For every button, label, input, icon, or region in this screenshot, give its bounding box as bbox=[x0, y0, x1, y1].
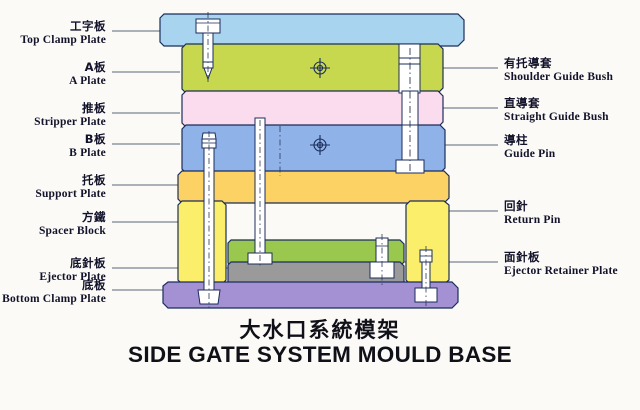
spacer-block-left bbox=[178, 201, 226, 284]
label-stripper-plate-cn: 推板 bbox=[34, 100, 106, 116]
label-a-plate-en: A Plate bbox=[69, 75, 106, 87]
label-guide-pin: 導柱 Guide Pin bbox=[504, 132, 555, 160]
label-b-plate: B板 B Plate bbox=[69, 131, 106, 159]
label-spacer-block-en: Spacer Block bbox=[39, 225, 106, 237]
mould-base-figure: 工字板 Top Clamp Plate A板 A Plate 推板 Stripp… bbox=[0, 0, 640, 410]
label-bottom-clamp-plate: 底板 Bottom Clamp Plate bbox=[2, 277, 106, 305]
label-support-plate-en: Support Plate bbox=[35, 188, 106, 200]
label-support-plate: 托板 Support Plate bbox=[35, 172, 106, 200]
label-b-plate-en: B Plate bbox=[69, 147, 106, 159]
label-bottom-clamp-plate-en: Bottom Clamp Plate bbox=[2, 293, 106, 305]
label-return-pin-cn: 回針 bbox=[504, 198, 561, 214]
label-a-plate: A板 A Plate bbox=[69, 59, 106, 87]
plate-support bbox=[178, 171, 449, 203]
label-shoulder-guide-bush-en: Shoulder Guide Bush bbox=[504, 71, 613, 83]
label-spacer-block: 方鐵 Spacer Block bbox=[39, 209, 106, 237]
label-support-plate-cn: 托板 bbox=[35, 172, 106, 188]
shoulder-guide-bush-body bbox=[399, 44, 420, 93]
label-stripper-plate: 推板 Stripper Plate bbox=[34, 100, 106, 128]
label-shoulder-guide-bush: 有托導套 Shoulder Guide Bush bbox=[504, 55, 613, 83]
label-guide-pin-en: Guide Pin bbox=[504, 148, 555, 160]
label-ejector-retainer-plate-cn: 面針板 bbox=[504, 249, 618, 265]
label-spacer-block-cn: 方鐵 bbox=[39, 209, 106, 225]
label-straight-guide-bush: 直導套 Straight Guide Bush bbox=[504, 95, 609, 123]
label-top-clamp-plate-en: Top Clamp Plate bbox=[20, 34, 106, 46]
label-return-pin-en: Return Pin bbox=[504, 214, 561, 226]
label-a-plate-cn: A板 bbox=[69, 59, 106, 75]
label-top-clamp-plate: 工字板 Top Clamp Plate bbox=[20, 18, 106, 46]
label-return-pin: 回針 Return Pin bbox=[504, 198, 561, 226]
label-shoulder-guide-bush-cn: 有托導套 bbox=[504, 55, 613, 71]
label-guide-pin-cn: 導柱 bbox=[504, 132, 555, 148]
label-straight-guide-bush-cn: 直導套 bbox=[504, 95, 609, 111]
label-bottom-clamp-plate-cn: 底板 bbox=[2, 277, 106, 293]
label-stripper-plate-en: Stripper Plate bbox=[34, 116, 106, 128]
label-straight-guide-bush-en: Straight Guide Bush bbox=[504, 111, 609, 123]
label-ejector-retainer-plate: 面針板 Ejector Retainer Plate bbox=[504, 249, 618, 277]
label-ejector-retainer-plate-en: Ejector Retainer Plate bbox=[504, 265, 618, 277]
figure-title-english: SIDE GATE SYSTEM MOULD BASE bbox=[0, 342, 640, 368]
figure-title: 大水口系統模架 SIDE GATE SYSTEM MOULD BASE bbox=[0, 318, 640, 368]
figure-title-chinese: 大水口系統模架 bbox=[0, 318, 640, 342]
label-top-clamp-plate-cn: 工字板 bbox=[20, 18, 106, 34]
label-b-plate-cn: B板 bbox=[69, 131, 106, 147]
label-ejector-plate-cn: 底針板 bbox=[39, 255, 106, 271]
